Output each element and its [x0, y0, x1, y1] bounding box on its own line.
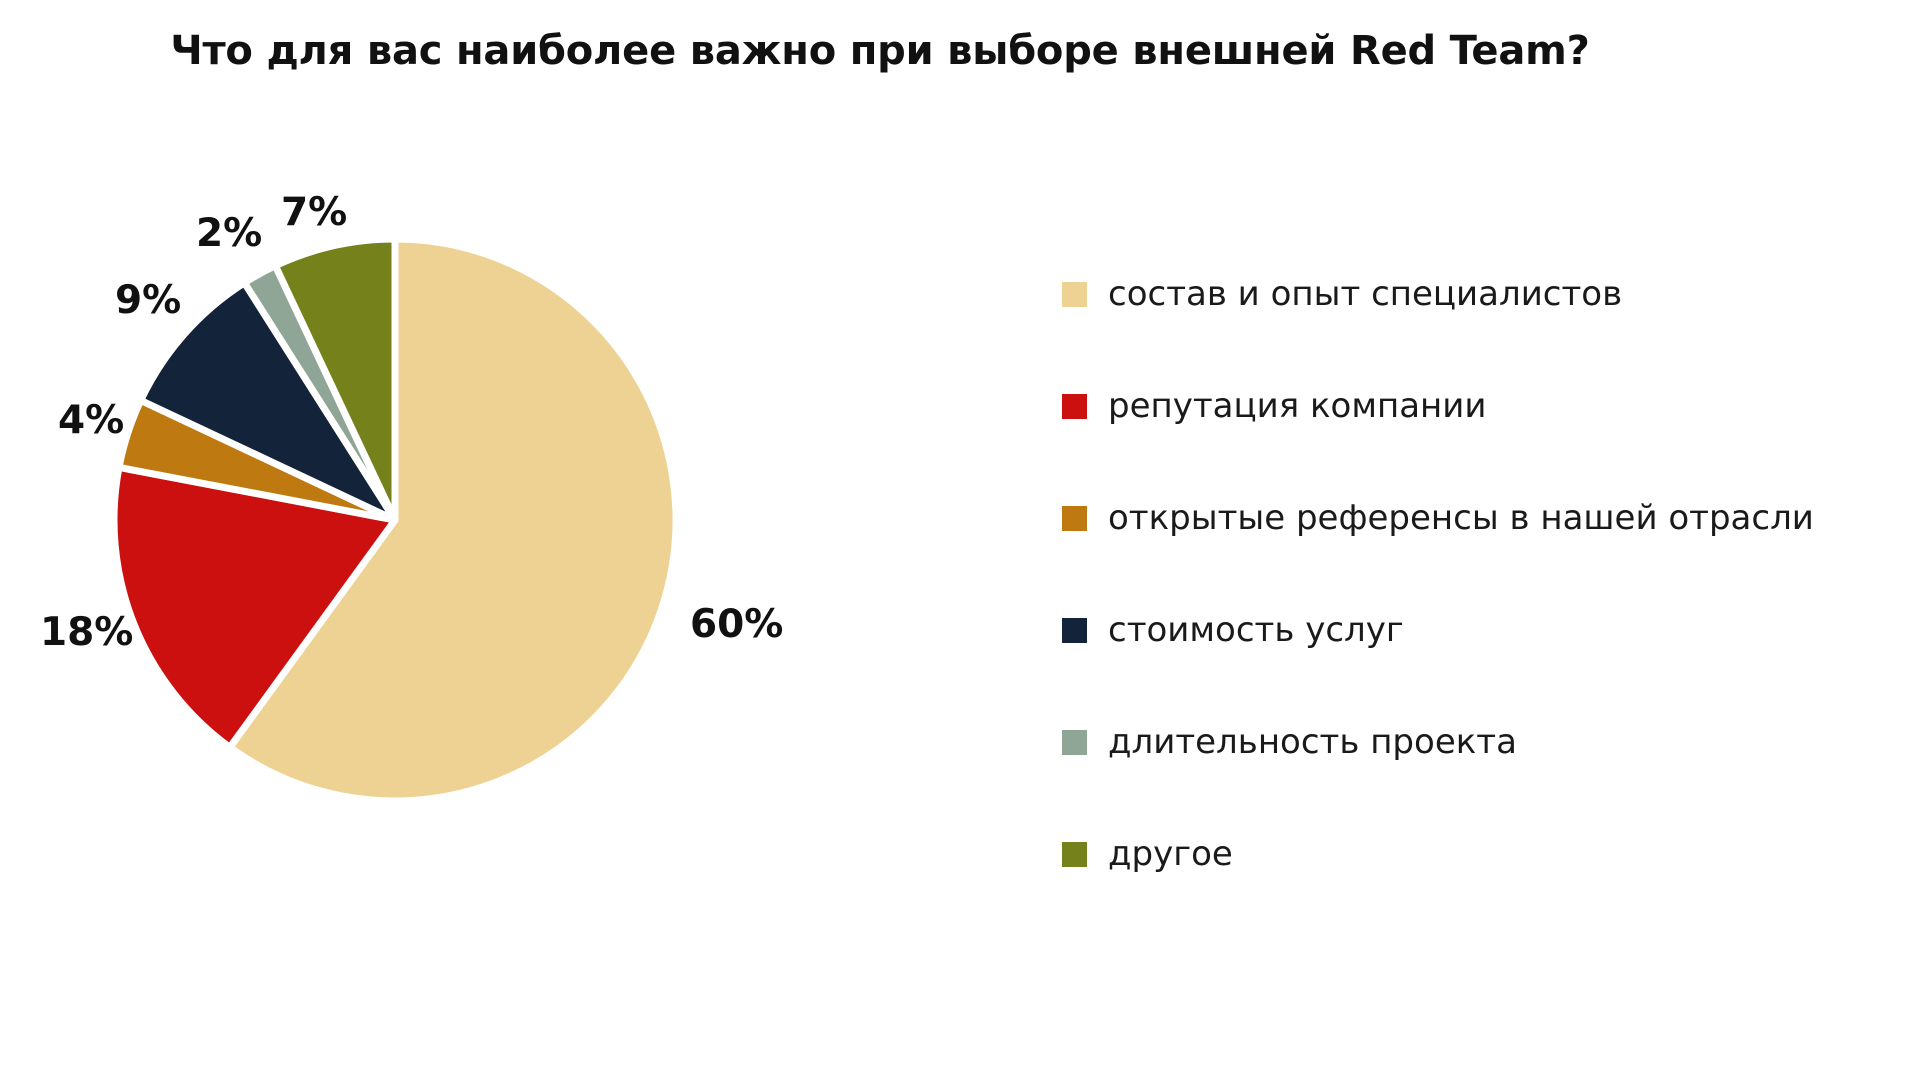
legend-item-label: стоимость услуг: [1108, 613, 1404, 647]
pie-slice-value-label: 2%: [196, 211, 262, 256]
pie-slice-value-label: 60%: [690, 602, 783, 647]
legend-swatch-reputaciya: [1062, 394, 1087, 419]
legend-item[interactable]: стоимость услуг: [1062, 574, 1902, 686]
legend-swatch-sostav: [1062, 282, 1087, 307]
legend-item[interactable]: длительность проекта: [1062, 686, 1902, 798]
pie-slice-group: [114, 239, 676, 801]
legend-item-label: другое: [1108, 837, 1233, 871]
page-title: Что для вас наиболее важно при выборе вн…: [0, 28, 1760, 74]
pie-chart: 60%18%4%9%2%7%: [0, 150, 1000, 1050]
chart-canvas: Что для вас наиболее важно при выборе вн…: [0, 0, 1920, 1080]
pie-slice-value-label: 9%: [115, 278, 181, 323]
legend-swatch-stoimost: [1062, 618, 1087, 643]
legend-swatch-drugoe: [1062, 842, 1087, 867]
legend-item[interactable]: другое: [1062, 798, 1902, 910]
legend-item[interactable]: открытые референсы в нашей отрасли: [1062, 462, 1902, 574]
legend-swatch-referensy: [1062, 506, 1087, 531]
legend-item[interactable]: состав и опыт специалистов: [1062, 238, 1902, 350]
pie-slice-value-label: 7%: [281, 190, 347, 235]
legend-item[interactable]: репутация компании: [1062, 350, 1902, 462]
pie-slice-value-label: 18%: [40, 610, 133, 655]
legend-item-label: длительность проекта: [1108, 725, 1517, 759]
chart-legend: состав и опыт специалистоврепутация комп…: [1062, 238, 1902, 910]
legend-item-label: репутация компании: [1108, 389, 1486, 423]
pie-slice-value-label: 4%: [58, 398, 124, 443]
legend-item-label: открытые референсы в нашей отрасли: [1108, 501, 1814, 535]
legend-item-label: состав и опыт специалистов: [1108, 277, 1622, 311]
legend-swatch-dlitelnost: [1062, 730, 1087, 755]
